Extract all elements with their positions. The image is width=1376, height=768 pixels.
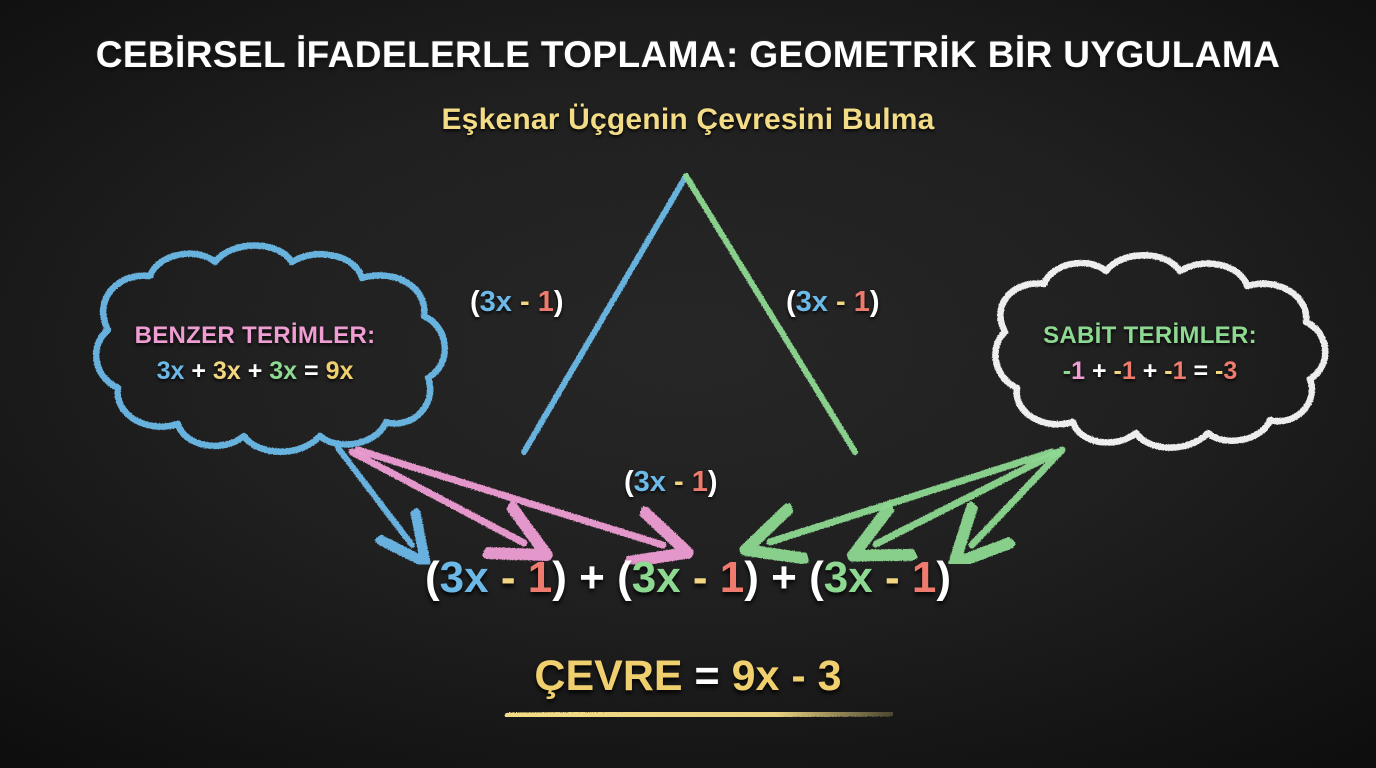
paren-open: ( — [624, 466, 634, 498]
paren-open: ( — [809, 553, 824, 602]
constant-1: 1 — [528, 553, 552, 602]
paren-close: ) — [936, 553, 951, 602]
plus-sign-2: + — [1143, 357, 1158, 385]
term-3x: 3x — [440, 553, 489, 602]
constant-1: 1 — [912, 553, 936, 602]
paren-close: ) — [870, 286, 880, 318]
like-terms-result: 9x — [326, 357, 354, 385]
page-subtitle: Eşkenar Üçgenin Çevresini Bulma — [0, 103, 1376, 137]
cloud-left-equation: 3x + 3x + 3x = 9x — [80, 359, 430, 384]
minus-sign: - — [885, 553, 900, 602]
arrow-group-right — [770, 450, 1062, 545]
term-3x: 3x — [634, 466, 666, 498]
minus-sign: - — [836, 286, 846, 318]
constant-1: 1 — [854, 286, 870, 318]
minus-sign: - — [501, 553, 516, 602]
result-term-9x: 9x — [732, 652, 780, 700]
minus-sign: - — [693, 553, 708, 602]
cloud-right-heading: SABİT TERİMLER: — [975, 322, 1325, 350]
paren-close: ) — [708, 466, 718, 498]
plus-sign-2: + — [248, 357, 263, 385]
cloud-right-content: SABİT TERİMLER: -1 + -1 + -1 = -3 — [975, 322, 1325, 384]
paren-open: ( — [425, 553, 440, 602]
cloud-left-heading: BENZER TERİMLER: — [80, 322, 430, 350]
result-underline — [508, 713, 890, 716]
constant-2: 1 — [1122, 357, 1136, 385]
paren-open: ( — [786, 286, 796, 318]
triangle-base-label: (3x - 1) — [624, 468, 718, 497]
term-3x: 3x — [480, 286, 512, 318]
constant-1: 1 — [538, 286, 554, 318]
result-label: ÇEVRE — [534, 652, 682, 700]
term-3x: 3x — [796, 286, 828, 318]
main-sum-expression: (3x - 1) + (3x - 1) + (3x - 1) — [0, 556, 1376, 600]
sum-group-1: (3x - 1) — [425, 553, 567, 602]
paren-close: ) — [744, 553, 759, 602]
chalkboard-canvas: CEBİRSEL İFADELERLE TOPLAMA: GEOMETRİK B… — [0, 0, 1376, 768]
result-expression: ÇEVRE = 9x - 3 — [0, 655, 1376, 698]
equals-sign: = — [1193, 357, 1208, 385]
equals-sign: = — [304, 357, 319, 385]
constant-1: 1 — [1071, 357, 1085, 385]
minus-sign-2: - — [1114, 357, 1122, 385]
constant-1: 1 — [720, 553, 744, 602]
like-term-1: 3x — [157, 357, 185, 385]
plus-sign-1: + — [579, 553, 605, 602]
plus-sign-1: + — [191, 357, 206, 385]
plus-sign-1: + — [1092, 357, 1107, 385]
triangle-left-side-label: (3x - 1) — [470, 288, 564, 317]
term-3x: 3x — [632, 553, 681, 602]
sum-group-2: (3x - 1) — [617, 553, 759, 602]
cloud-left-content: BENZER TERİMLER: 3x + 3x + 3x = 9x — [80, 322, 430, 384]
term-3x: 3x — [824, 553, 873, 602]
cloud-right-equation: -1 + -1 + -1 = -3 — [975, 359, 1325, 384]
constants-result: 3 — [1223, 357, 1237, 385]
constant-3: 1 — [1173, 357, 1187, 385]
minus-sign-1: - — [1063, 357, 1071, 385]
constant-1: 1 — [692, 466, 708, 498]
paren-close: ) — [552, 553, 567, 602]
minus-sign: - — [674, 466, 684, 498]
page-title: CEBİRSEL İFADELERLE TOPLAMA: GEOMETRİK B… — [0, 34, 1376, 76]
sum-group-3: (3x - 1) — [809, 553, 951, 602]
minus-sign-3: - — [1164, 357, 1172, 385]
minus-sign: - — [520, 286, 530, 318]
paren-open: ( — [617, 553, 632, 602]
like-term-3: 3x — [269, 357, 297, 385]
result-constant: 3 — [818, 652, 842, 700]
paren-open: ( — [470, 286, 480, 318]
triangle-right-side-label: (3x - 1) — [786, 288, 880, 317]
like-term-2: 3x — [213, 357, 241, 385]
arrow-group-left — [338, 448, 663, 545]
plus-sign-2: + — [771, 553, 797, 602]
minus-sign: - — [791, 652, 805, 700]
paren-close: ) — [554, 286, 564, 318]
equals-sign: = — [695, 652, 720, 700]
